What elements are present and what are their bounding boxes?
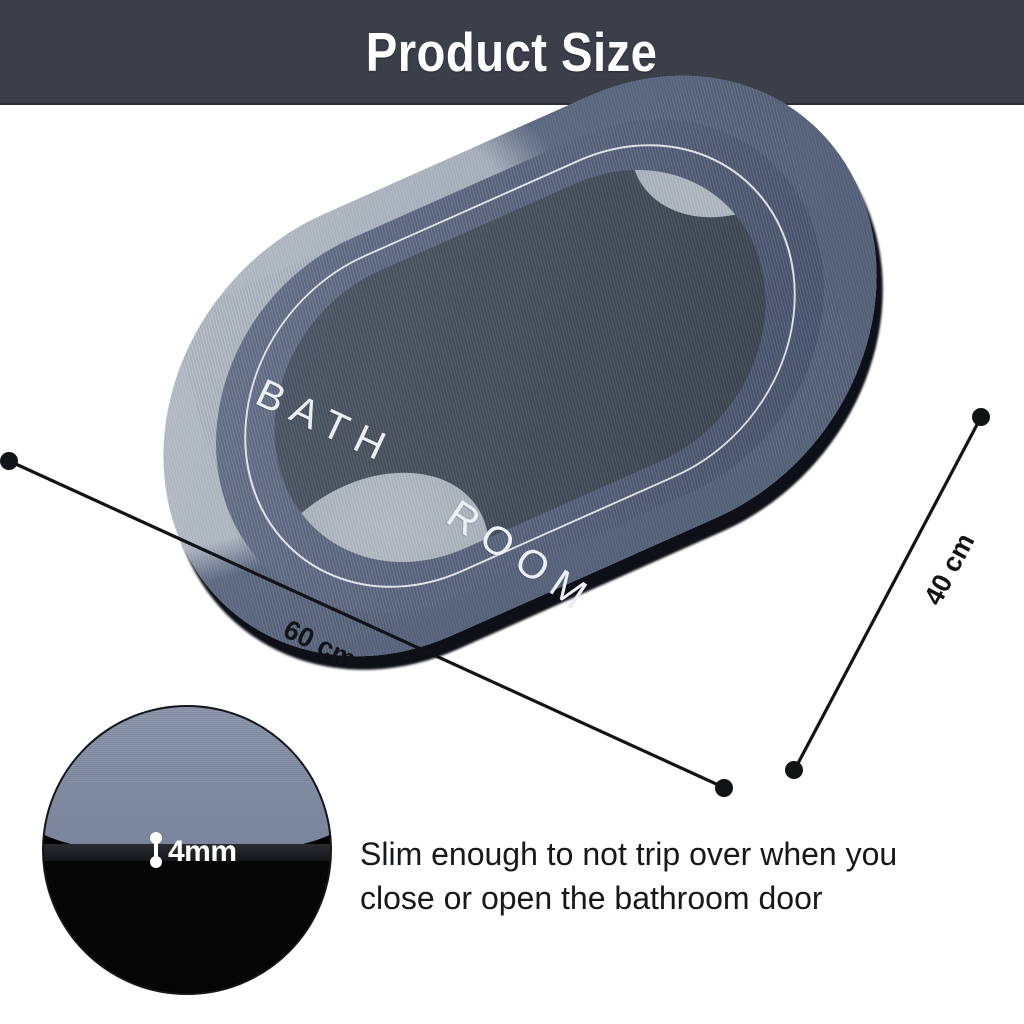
feature-caption-line2: close or open the bathroom door [360,876,990,920]
dimension-endpoint-bottom [715,779,733,797]
double-ended-arrow-icon [148,832,164,868]
feature-caption-line1: Slim enough to not trip over when you [360,832,990,876]
feature-caption: Slim enough to not trip over when you cl… [360,832,990,920]
header-bar: Product Size [0,0,1024,103]
dimension-endpoint-right [785,761,803,779]
detail-mat-underside [42,861,332,995]
page-title: Product Size [366,20,658,84]
infographic-canvas: Product Size BATH [0,0,1024,1024]
detail-mat-surface [42,705,332,856]
product-illustration: BATH ROOM [0,103,1024,703]
detail-surface-texture [42,705,332,782]
mat-outer-band [108,1,931,731]
thickness-label: 4mm [168,835,237,869]
bath-mat-graphic [108,1,931,731]
